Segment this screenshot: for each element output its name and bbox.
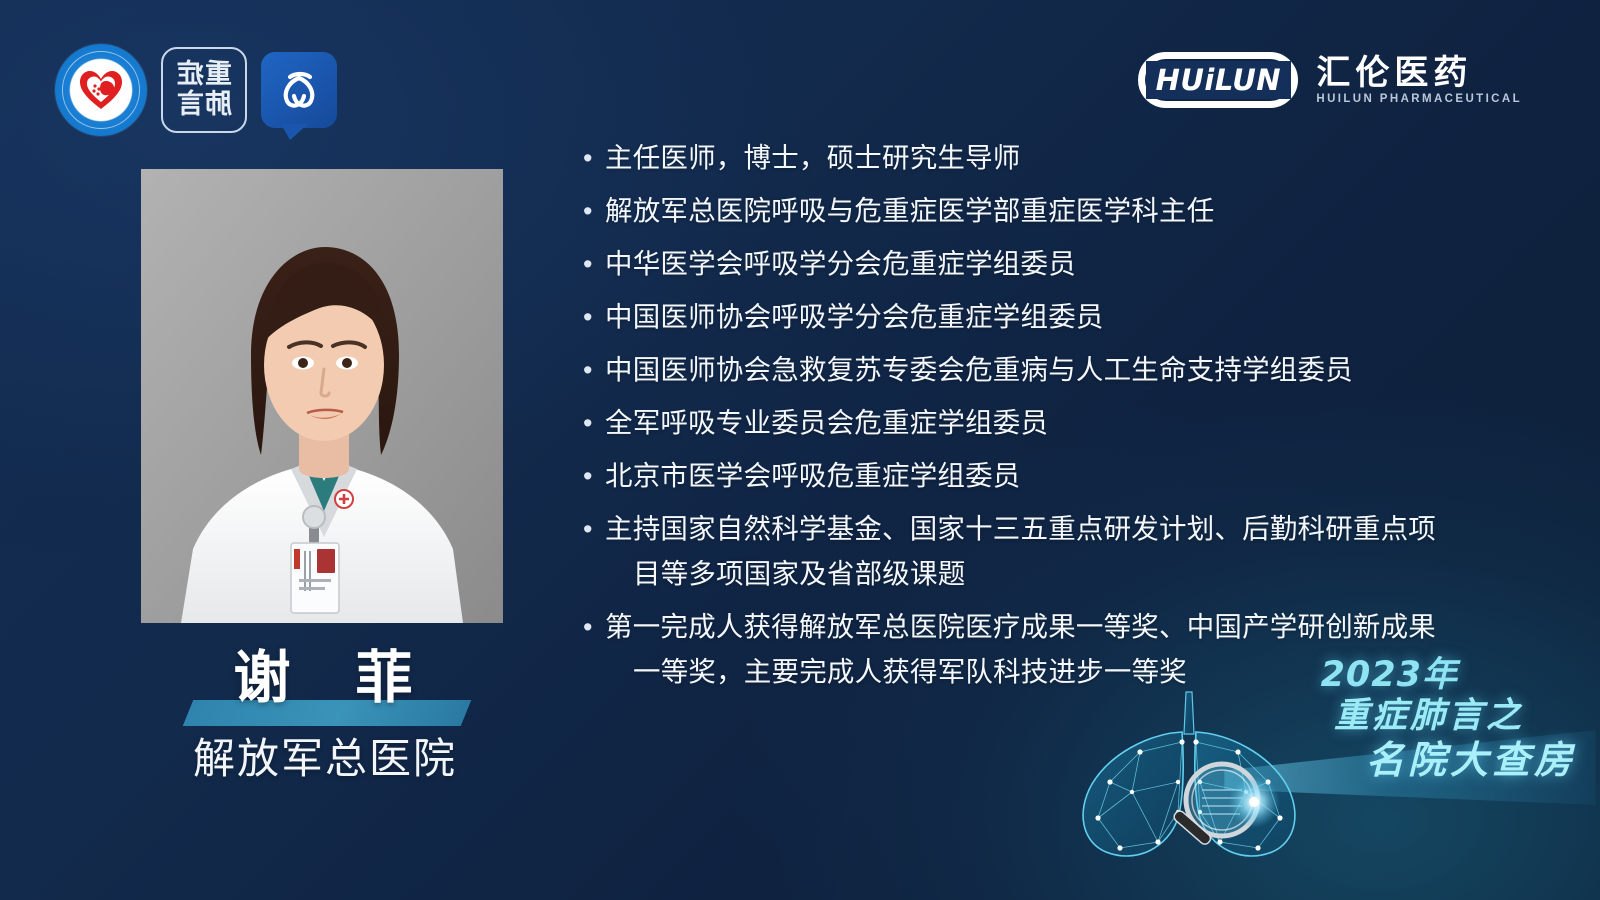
list-item-text: 中国医师协会急救复苏专委会危重病与人工生命支持学组委员 — [605, 348, 1553, 393]
huilun-wordmark: HUiLUN — [1146, 61, 1291, 99]
list-item-text: 主任医师，博士，硕士研究生导师 — [605, 136, 1553, 181]
bullet-icon: • — [583, 295, 605, 339]
sponsor-brand-logo: HUiLUN 汇伦医药 HUILUN PHARMACEUTICAL — [1138, 52, 1522, 108]
bullet-icon: • — [583, 605, 605, 649]
list-item-text: 主持国家自然科学基金、国家十三五重点研发计划、后勤科研重点项 目等多项国家及省部… — [605, 507, 1553, 597]
event-title-line2: 名院大查房 — [1321, 737, 1576, 785]
event-title-line1: 重症肺言之 — [1321, 695, 1524, 737]
list-item: • 中国医师协会呼吸学分会危重症学组委员 — [583, 295, 1553, 340]
event-title-block: 2023年 重症肺言之 名院大查房 — [1321, 656, 1576, 785]
speech-bubble-infinity-icon — [261, 52, 337, 128]
huilun-mark-icon: HUiLUN — [1138, 52, 1298, 108]
sponsor-name-cn: 汇伦医药 — [1316, 55, 1472, 92]
bullet-icon: • — [583, 454, 605, 498]
list-item: • 北京市医学会呼吸危重症学组委员 — [583, 454, 1553, 499]
program-logo-line1: 重症 — [176, 61, 232, 89]
list-item-text-line1: 主持国家自然科学基金、国家十三五重点研发计划、后勤科研重点项 — [605, 513, 1436, 545]
list-item: • 解放军总医院呼吸与危重症医学部重症医学科主任 — [583, 189, 1553, 234]
heart-icon — [78, 69, 124, 111]
list-item: • 全军呼吸专业委员会危重症学组委员 — [583, 401, 1553, 446]
list-item-text: 全军呼吸专业委员会危重症学组委员 — [605, 401, 1553, 446]
list-item-text: 中华医学会呼吸学分会危重症学组委员 — [605, 242, 1553, 287]
speaker-name: 谢 菲 — [100, 650, 550, 707]
heart-in-hand-emblem-icon — [55, 44, 147, 136]
bullet-icon: • — [583, 401, 605, 445]
credentials-list: • 主任医师，博士，硕士研究生导师 • 解放军总医院呼吸与危重症医学部重症医学科… — [583, 136, 1553, 703]
partner-logo-group: 重症 肺言 — [55, 44, 337, 136]
event-branding-block: 2023年 重症肺言之 名院大查房 — [1024, 652, 1584, 882]
bullet-icon: • — [583, 189, 605, 233]
bullet-icon: • — [583, 242, 605, 286]
list-item: • 主持国家自然科学基金、国家十三五重点研发计划、后勤科研重点项 目等多项国家及… — [583, 507, 1553, 597]
bullet-icon: • — [583, 136, 605, 180]
list-item-text: 解放军总医院呼吸与危重症医学部重症医学科主任 — [605, 189, 1553, 234]
bullet-icon: • — [583, 507, 605, 551]
speaker-photo — [141, 169, 503, 623]
lung-wireframe-magnifier-icon — [1040, 672, 1340, 882]
sponsor-name-block: 汇伦医药 HUILUN PHARMACEUTICAL — [1316, 55, 1522, 105]
sponsor-name-en: HUILUN PHARMACEUTICAL — [1316, 93, 1522, 105]
list-item-text-line1: 第一完成人获得解放军总医院医疗成果一等奖、中国产学研创新成果 — [605, 611, 1436, 643]
list-item-text: 中国医师协会呼吸学分会危重症学组委员 — [605, 295, 1553, 340]
list-item-text-line2: 目等多项国家及省部级课题 — [605, 552, 1553, 597]
speaker-identity-block: 谢 菲 解放军总医院 — [100, 650, 550, 786]
list-item-text: 北京市医学会呼吸危重症学组委员 — [605, 454, 1553, 499]
slide-canvas: 重症 肺言 HUiLUN 汇伦医药 HUILUN PHARMACEUTICAL — [0, 0, 1600, 900]
event-year: 2023年 — [1321, 656, 1458, 695]
list-item: • 中国医师协会急救复苏专委会危重病与人工生命支持学组委员 — [583, 348, 1553, 393]
program-logo-line2: 肺言 — [176, 91, 232, 119]
list-item: • 主任医师，博士，硕士研究生导师 — [583, 136, 1553, 181]
list-item: • 中华医学会呼吸学分会危重症学组委员 — [583, 242, 1553, 287]
speaker-hospital: 解放军总医院 — [100, 725, 550, 786]
bullet-icon: • — [583, 348, 605, 392]
program-square-logo: 重症 肺言 — [161, 47, 247, 133]
